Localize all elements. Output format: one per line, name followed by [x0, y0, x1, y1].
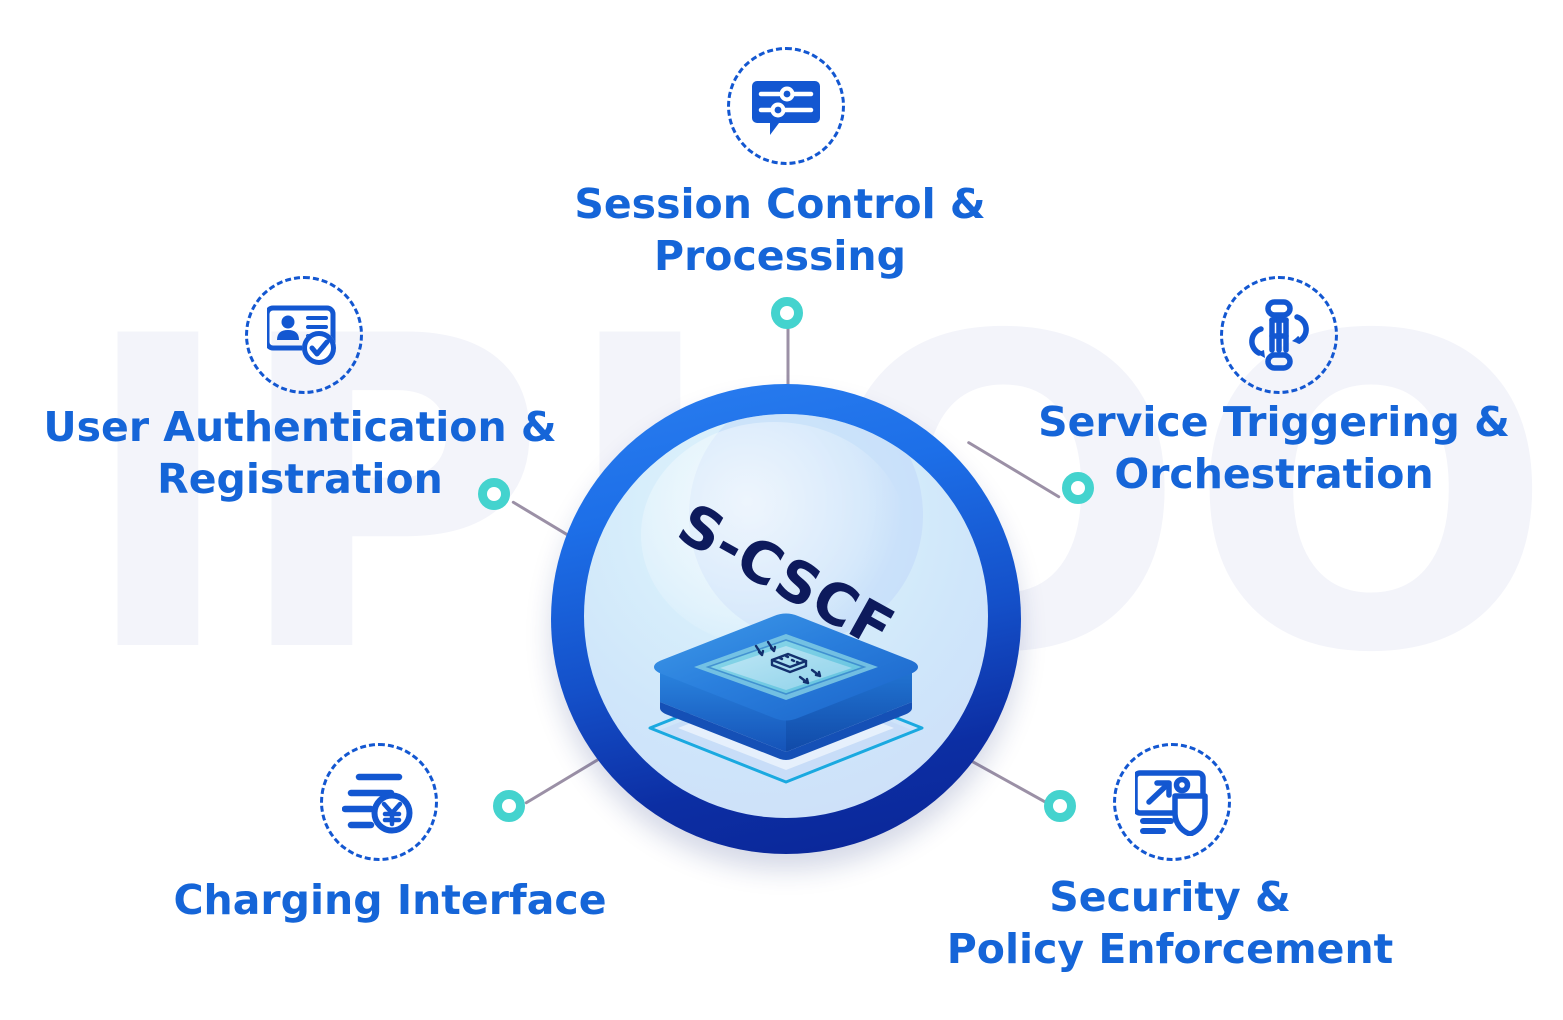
hub-circle[interactable]: S-CSCF	[551, 384, 1021, 854]
node-label-security-policy-enforcement: Security & Policy Enforcement	[905, 871, 1435, 976]
node-label-charging-interface: Charging Interface	[120, 874, 660, 926]
node-label-session-control-processing: Session Control & Processing	[505, 178, 1055, 283]
connector-dot-security	[1044, 790, 1076, 822]
connector-dot-charging	[493, 790, 525, 822]
currency-coin-lines-icon	[320, 743, 438, 861]
id-card-check-icon	[245, 276, 363, 394]
orchestration-arrows-icon	[1220, 276, 1338, 394]
node-label-user-authentication-registration: User Authentication & Registration	[0, 401, 600, 506]
diagram-canvas: IP LOOK S-CSCF	[0, 0, 1563, 1020]
chat-sliders-icon	[727, 47, 845, 165]
isometric-network-function-chip-icon	[636, 562, 936, 792]
shield-screen-icon	[1113, 743, 1231, 861]
node-label-service-triggering-orchestration: Service Triggering & Orchestration	[985, 396, 1563, 501]
connector-dot-session	[771, 297, 803, 329]
